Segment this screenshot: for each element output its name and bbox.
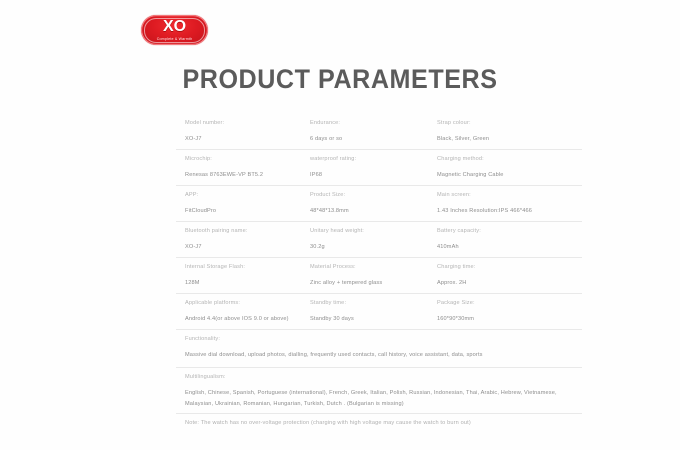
- spec-cell-endurance: Endurance: 6 days or so: [310, 118, 436, 144]
- table-row: Internal Storage Flash: 128M Material Pr…: [176, 257, 582, 293]
- spec-label: Unitary head weight:: [310, 226, 436, 236]
- table-row: APP: FitCloudPro Product Size: 48*48*13.…: [176, 185, 582, 221]
- brand-logo: XO Complete & Warmth: [141, 15, 208, 45]
- logo-text: XO: [141, 19, 208, 35]
- spec-label: Product Size:: [310, 190, 436, 200]
- table-row: Applicable platforms: Android 4.4(or abo…: [176, 293, 582, 329]
- spec-value: Approx. 2H: [437, 278, 587, 288]
- spec-label: Battery capacity:: [437, 226, 587, 236]
- table-row: Model number: XO-J7 Endurance: 6 days or…: [176, 114, 582, 149]
- spec-value: 410mAh: [437, 242, 587, 252]
- table-row-note: Note: The watch has no over-voltage prot…: [176, 413, 582, 440]
- spec-value: 128M: [185, 278, 313, 288]
- spec-label: Internal Storage Flash:: [185, 262, 313, 272]
- table-row: Bluetooth pairing name: XO-J7 Unitary he…: [176, 221, 582, 257]
- spec-label: APP:: [185, 190, 313, 200]
- spec-label: Endurance:: [310, 118, 436, 128]
- spec-value: XO-J7: [185, 242, 313, 252]
- table-row: Functionality: Massive dial download, up…: [176, 329, 582, 367]
- spec-cell-battery-capacity: Battery capacity: 410mAh: [437, 226, 587, 252]
- spec-cell-functionality: Functionality: Massive dial download, up…: [185, 334, 581, 361]
- spec-value: English, Chinese, Spanish, Portuguese (i…: [185, 388, 581, 409]
- spec-label: waterproof rating:: [310, 154, 436, 164]
- spec-cell-multilingualism: Multilingualism: English, Chinese, Spani…: [185, 372, 581, 409]
- spec-cell-model-number: Model number: XO-J7: [185, 118, 313, 144]
- spec-value: 6 days or so: [310, 134, 436, 144]
- spec-cell-material-process: Material Process: Zinc alloy + tempered …: [310, 262, 436, 288]
- spec-value: Renesas 8763EWE-VP BT5.2: [185, 170, 313, 180]
- spec-cell-waterproof-rating: waterproof rating: IP68: [310, 154, 436, 180]
- spec-label: Charging time:: [437, 262, 587, 272]
- spec-sheet-page: XO Complete & Warmth PRODUCT PARAMETERS …: [0, 0, 680, 450]
- spec-value: Magnetic Charging Cable: [437, 170, 587, 180]
- spec-label: Charging method:: [437, 154, 587, 164]
- spec-cell-strap-colour: Strap colour: Black, Silver, Green: [437, 118, 587, 144]
- spec-label: Strap colour:: [437, 118, 587, 128]
- spec-label: Bluetooth pairing name:: [185, 226, 313, 236]
- spec-value: 160*90*30mm: [437, 314, 587, 324]
- spec-value: Standby 30 days: [310, 314, 436, 324]
- spec-label: Microchip:: [185, 154, 313, 164]
- spec-cell-bluetooth-pairing-name: Bluetooth pairing name: XO-J7: [185, 226, 313, 252]
- spec-cell-note: Note: The watch has no over-voltage prot…: [185, 418, 581, 428]
- table-row: Microchip: Renesas 8763EWE-VP BT5.2 wate…: [176, 149, 582, 185]
- spec-cell-package-size: Package Size: 160*90*30mm: [437, 298, 587, 324]
- spec-value: Massive dial download, upload photos, di…: [185, 350, 581, 361]
- spec-label: Multilingualism:: [185, 372, 581, 382]
- spec-label: Standby time:: [310, 298, 436, 308]
- spec-cell-product-size: Product Size: 48*48*13.8mm: [310, 190, 436, 216]
- spec-cell-standby-time: Standby time: Standby 30 days: [310, 298, 436, 324]
- parameters-table: Model number: XO-J7 Endurance: 6 days or…: [176, 114, 582, 440]
- spec-cell-microchip: Microchip: Renesas 8763EWE-VP BT5.2: [185, 154, 313, 180]
- spec-value: Zinc alloy + tempered glass: [310, 278, 436, 288]
- spec-value: IP68: [310, 170, 436, 180]
- spec-value: Black, Silver, Green: [437, 134, 587, 144]
- spec-cell-main-screen: Main screen: 1.43 Inches Resolution:IPS …: [437, 190, 587, 216]
- spec-value: FitCloudPro: [185, 206, 313, 216]
- logo-badge-shape: XO Complete & Warmth: [141, 15, 208, 45]
- logo-tagline: Complete & Warmth: [141, 37, 208, 42]
- spec-value: XO-J7: [185, 134, 313, 144]
- spec-value: 1.43 Inches Resolution:IPS 466*466: [437, 206, 587, 216]
- note-text: Note: The watch has no over-voltage prot…: [185, 418, 581, 428]
- spec-label: Material Process:: [310, 262, 436, 272]
- spec-label: Main screen:: [437, 190, 587, 200]
- spec-value: Android 4.4(or above IOS 9.0 or above): [185, 314, 313, 324]
- spec-label: Model number:: [185, 118, 313, 128]
- spec-cell-internal-storage-flash: Internal Storage Flash: 128M: [185, 262, 313, 288]
- spec-cell-applicable-platforms: Applicable platforms: Android 4.4(or abo…: [185, 298, 313, 324]
- spec-value: 48*48*13.8mm: [310, 206, 436, 216]
- spec-label: Package Size:: [437, 298, 587, 308]
- spec-value: 30.2g: [310, 242, 436, 252]
- spec-cell-unitary-head-weight: Unitary head weight: 30.2g: [310, 226, 436, 252]
- spec-cell-charging-time: Charging time: Approx. 2H: [437, 262, 587, 288]
- spec-cell-app: APP: FitCloudPro: [185, 190, 313, 216]
- table-row: Multilingualism: English, Chinese, Spani…: [176, 367, 582, 413]
- spec-cell-charging-method: Charging method: Magnetic Charging Cable: [437, 154, 587, 180]
- spec-label: Functionality:: [185, 334, 581, 344]
- spec-label: Applicable platforms:: [185, 298, 313, 308]
- page-title: PRODUCT PARAMETERS: [24, 64, 656, 95]
